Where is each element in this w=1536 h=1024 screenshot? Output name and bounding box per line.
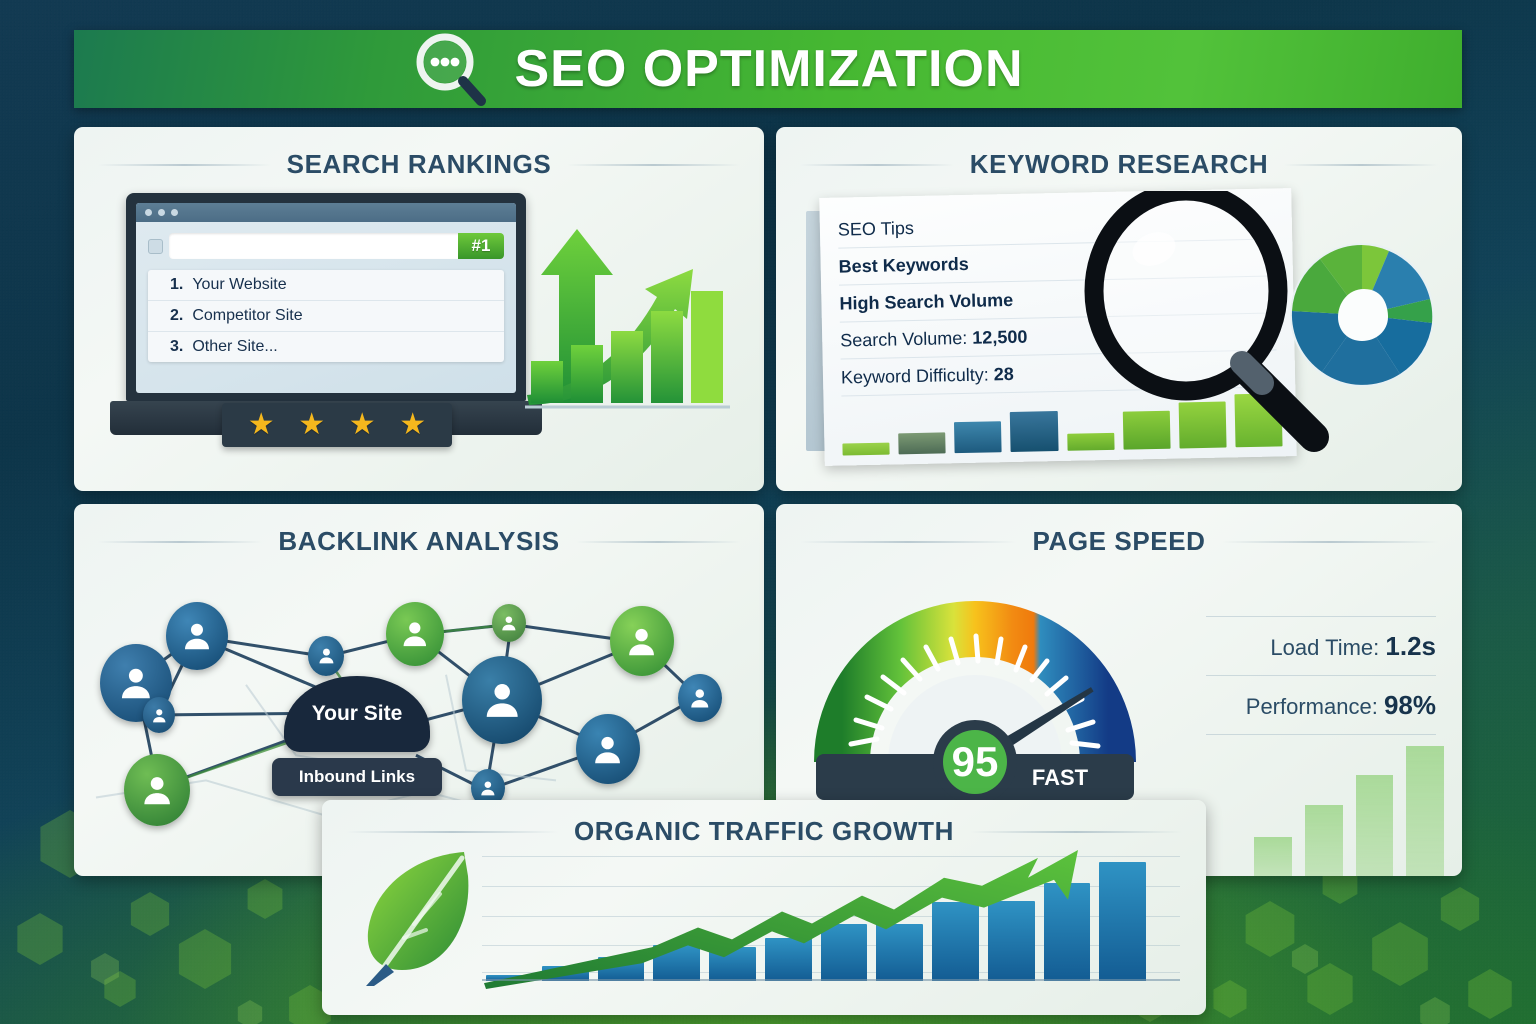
user-icon — [138, 769, 176, 811]
user-icon — [398, 615, 432, 652]
user-icon — [687, 684, 713, 712]
window-dot-close-icon — [145, 209, 152, 216]
stat-value: 1.2s — [1385, 631, 1436, 661]
list-item[interactable]: 1. Your Website — [148, 270, 504, 301]
magnifier-icon — [412, 29, 492, 109]
stat-value: 98% — [1384, 690, 1436, 720]
leaf-icon — [356, 846, 484, 986]
panel-title-search-rankings: SEARCH RANKINGS — [287, 149, 552, 180]
star-rating: ★ ★ ★ ★ — [222, 403, 452, 447]
bar — [1234, 393, 1282, 447]
stat-label: Load Time: — [1270, 635, 1379, 660]
keyword-document: SEO Tips Best Keywords High Search Volum… — [819, 188, 1297, 466]
stat-load-time: Load Time: 1.2s — [1206, 616, 1436, 676]
result-label: Competitor Site — [192, 307, 302, 325]
search-input[interactable]: #1 — [169, 233, 504, 259]
rank-badge: #1 — [458, 233, 504, 259]
search-row: #1 — [148, 233, 504, 259]
page-speed-side-bar-chart — [1254, 746, 1444, 876]
title-rule-left — [98, 164, 271, 166]
laptop-illustration: #1 1. Your Website 2. Competitor Site — [126, 193, 526, 435]
node-user[interactable] — [492, 604, 526, 642]
panel-title-row: PAGE SPEED — [776, 504, 1462, 557]
laptop-screen: #1 1. Your Website 2. Competitor Site — [136, 203, 516, 393]
node-user[interactable] — [610, 606, 674, 676]
node-user[interactable] — [462, 656, 542, 744]
bar — [1305, 805, 1343, 877]
your-site-label: Your Site — [312, 702, 403, 726]
checkbox-icon[interactable] — [148, 239, 163, 254]
laptop-lid: #1 1. Your Website 2. Competitor Site — [126, 193, 526, 401]
bar — [954, 421, 1002, 453]
user-icon — [478, 777, 498, 799]
node-user[interactable] — [124, 754, 190, 826]
title-rule-right — [576, 541, 740, 543]
organic-traffic-chart — [482, 844, 1180, 993]
user-icon — [479, 674, 525, 725]
bar — [898, 432, 946, 454]
metric-label: Search Volume: — [840, 328, 967, 351]
result-label: Other Site... — [192, 338, 277, 356]
page-speed-gauge: FAST 95 — [810, 566, 1140, 816]
page-speed-stats: Load Time: 1.2s Performance: 98% — [1206, 616, 1436, 735]
user-icon — [316, 644, 337, 667]
panel-title-row: BACKLINK ANALYSIS — [74, 504, 764, 557]
panel-title-backlink-analysis: BACKLINK ANALYSIS — [278, 526, 559, 557]
title-rule-left — [98, 541, 262, 543]
speed-rating-label: FAST — [1032, 765, 1089, 790]
star-icon: ★ — [349, 410, 376, 440]
stat-label: Performance: — [1246, 694, 1378, 719]
node-user[interactable] — [166, 602, 228, 670]
node-user[interactable] — [143, 697, 175, 733]
metric-keyword-difficulty: Keyword Difficulty: 28 — [841, 350, 1278, 396]
bar — [1067, 433, 1114, 451]
window-dot-maximize-icon — [171, 209, 178, 216]
node-user[interactable] — [386, 602, 444, 666]
metric-label: Keyword Difficulty: — [841, 364, 989, 387]
bar — [1406, 746, 1444, 876]
inbound-links-label: Inbound Links — [299, 767, 415, 787]
result-number: 3. — [170, 338, 183, 356]
title-rule-right — [1222, 541, 1438, 543]
title-rule-right — [1284, 164, 1438, 166]
node-user[interactable] — [678, 674, 722, 722]
bar — [1254, 837, 1292, 876]
result-label: Your Website — [192, 276, 286, 294]
bar — [1356, 775, 1394, 876]
metric-value: 28 — [994, 364, 1014, 384]
bar — [1122, 411, 1170, 450]
star-icon: ★ — [399, 410, 426, 440]
speed-score-value: 95 — [952, 738, 999, 785]
panel-title-page-speed: PAGE SPEED — [1032, 526, 1205, 557]
chart-x-axis — [482, 979, 1180, 981]
browser-chrome — [136, 203, 516, 222]
growth-arrow-bar-chart — [525, 223, 730, 423]
panel-organic-traffic-growth: ORGANIC TRAFFIC GROWTH — [322, 800, 1206, 1015]
stat-performance: Performance: 98% — [1206, 676, 1436, 735]
title-rule-left — [800, 164, 954, 166]
window-dot-minimize-icon — [158, 209, 165, 216]
panel-keyword-research: KEYWORD RESEARCH SEO Tips Best Keywords … — [776, 127, 1462, 491]
node-user[interactable] — [576, 714, 640, 784]
search-results-list: 1. Your Website 2. Competitor Site 3. Ot… — [148, 270, 504, 362]
search-input-field[interactable] — [169, 233, 458, 259]
title-rule-left — [800, 541, 1016, 543]
star-icon: ★ — [248, 410, 275, 440]
bar — [842, 442, 889, 455]
result-number: 1. — [170, 276, 183, 294]
keyword-list: SEO Tips Best Keywords High Search Volum… — [819, 188, 1295, 397]
user-icon — [623, 621, 660, 662]
panel-search-rankings: SEARCH RANKINGS #1 — [74, 127, 764, 491]
bar — [1010, 411, 1058, 452]
keyword-share-pie-chart — [1286, 239, 1438, 391]
browser-body: #1 1. Your Website 2. Competitor Site — [136, 222, 516, 373]
keyword-volume-bar-chart — [841, 390, 1282, 455]
user-icon — [179, 616, 215, 655]
metric-value: 12,500 — [972, 327, 1027, 348]
list-item[interactable]: 2. Competitor Site — [148, 301, 504, 332]
inbound-links-node[interactable]: Inbound Links — [272, 758, 442, 796]
panel-title-row: SEARCH RANKINGS — [74, 127, 764, 180]
list-item[interactable]: 3. Other Site... — [148, 332, 504, 362]
header-title: SEO OPTIMIZATION — [514, 39, 1023, 99]
traffic-trend-arrow — [482, 844, 1180, 993]
user-icon — [499, 612, 519, 634]
result-number: 2. — [170, 307, 183, 325]
header-banner: SEO OPTIMIZATION — [74, 30, 1462, 108]
node-user[interactable] — [308, 636, 344, 676]
panel-title-row: KEYWORD RESEARCH — [776, 127, 1462, 180]
star-icon: ★ — [298, 410, 325, 440]
title-rule-right — [567, 164, 740, 166]
bar — [1178, 402, 1226, 449]
user-icon — [150, 705, 169, 726]
user-icon — [589, 729, 626, 770]
panel-title-keyword-research: KEYWORD RESEARCH — [970, 149, 1269, 180]
